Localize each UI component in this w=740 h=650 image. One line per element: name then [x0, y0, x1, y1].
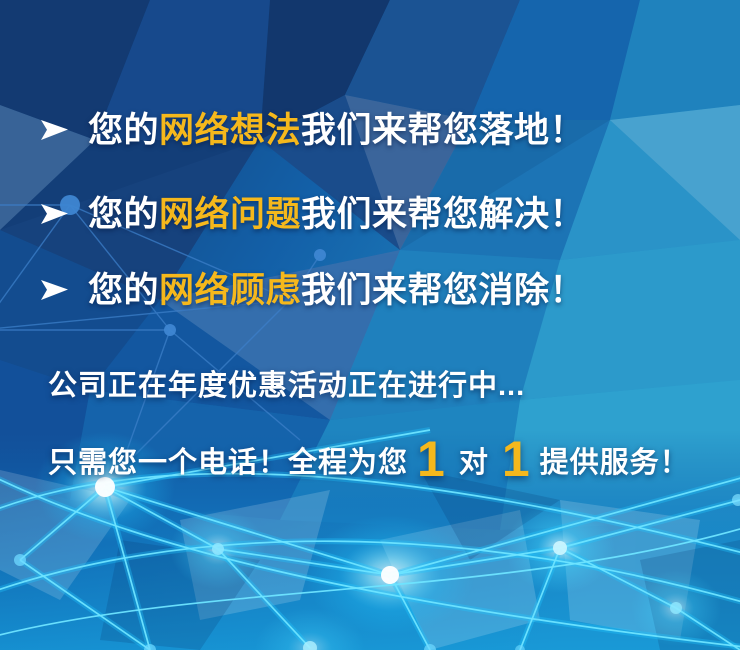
- subline2-part-b: 对: [455, 439, 493, 481]
- headline-row-3: 您的网络顾虑我们来帮您消除！: [34, 262, 585, 318]
- headline-suffix-3: 我们来帮您消除！: [301, 271, 585, 310]
- subline2-part-c: 提供服务！: [540, 439, 690, 481]
- subline2-number-1: 1: [408, 434, 455, 484]
- headline-row-2: 您的网络问题我们来帮您解决！: [34, 186, 585, 242]
- promo-subline-2: 只需您一个电话！全程为您 1 对 1 提供服务！: [48, 430, 690, 481]
- promo-banner: 您的网络想法我们来帮您落地！ 您的网络问题我们来帮您解决！ 您的网络顾虑我们来帮…: [0, 0, 740, 650]
- headline-text-2: 您的网络问题我们来帮您解决！: [88, 197, 585, 232]
- headline-text-1: 您的网络想法我们来帮您落地！: [88, 113, 585, 148]
- headline-highlight-3: 网络顾虑: [159, 271, 301, 310]
- headline-highlight-1: 网络想法: [159, 111, 301, 150]
- promo-subline-1: 公司正在年度优惠活动正在进行中...: [48, 362, 525, 404]
- headline-suffix-2: 我们来帮您解决！: [301, 195, 585, 234]
- right-arrow-icon: [34, 194, 74, 234]
- headline-text-3: 您的网络顾虑我们来帮您消除！: [88, 273, 585, 308]
- headline-prefix-3: 您的: [88, 271, 159, 310]
- headline-prefix-2: 您的: [88, 195, 159, 234]
- headline-row-1: 您的网络想法我们来帮您落地！: [34, 102, 585, 158]
- right-arrow-icon: [34, 270, 74, 310]
- headline-prefix-1: 您的: [88, 111, 159, 150]
- subline2-part-a: 只需您一个电话！全程为您: [48, 439, 408, 481]
- subline2-number-2: 1: [493, 434, 540, 484]
- headline-suffix-1: 我们来帮您落地！: [301, 111, 585, 150]
- right-arrow-icon: [34, 110, 74, 150]
- headline-highlight-2: 网络问题: [159, 195, 301, 234]
